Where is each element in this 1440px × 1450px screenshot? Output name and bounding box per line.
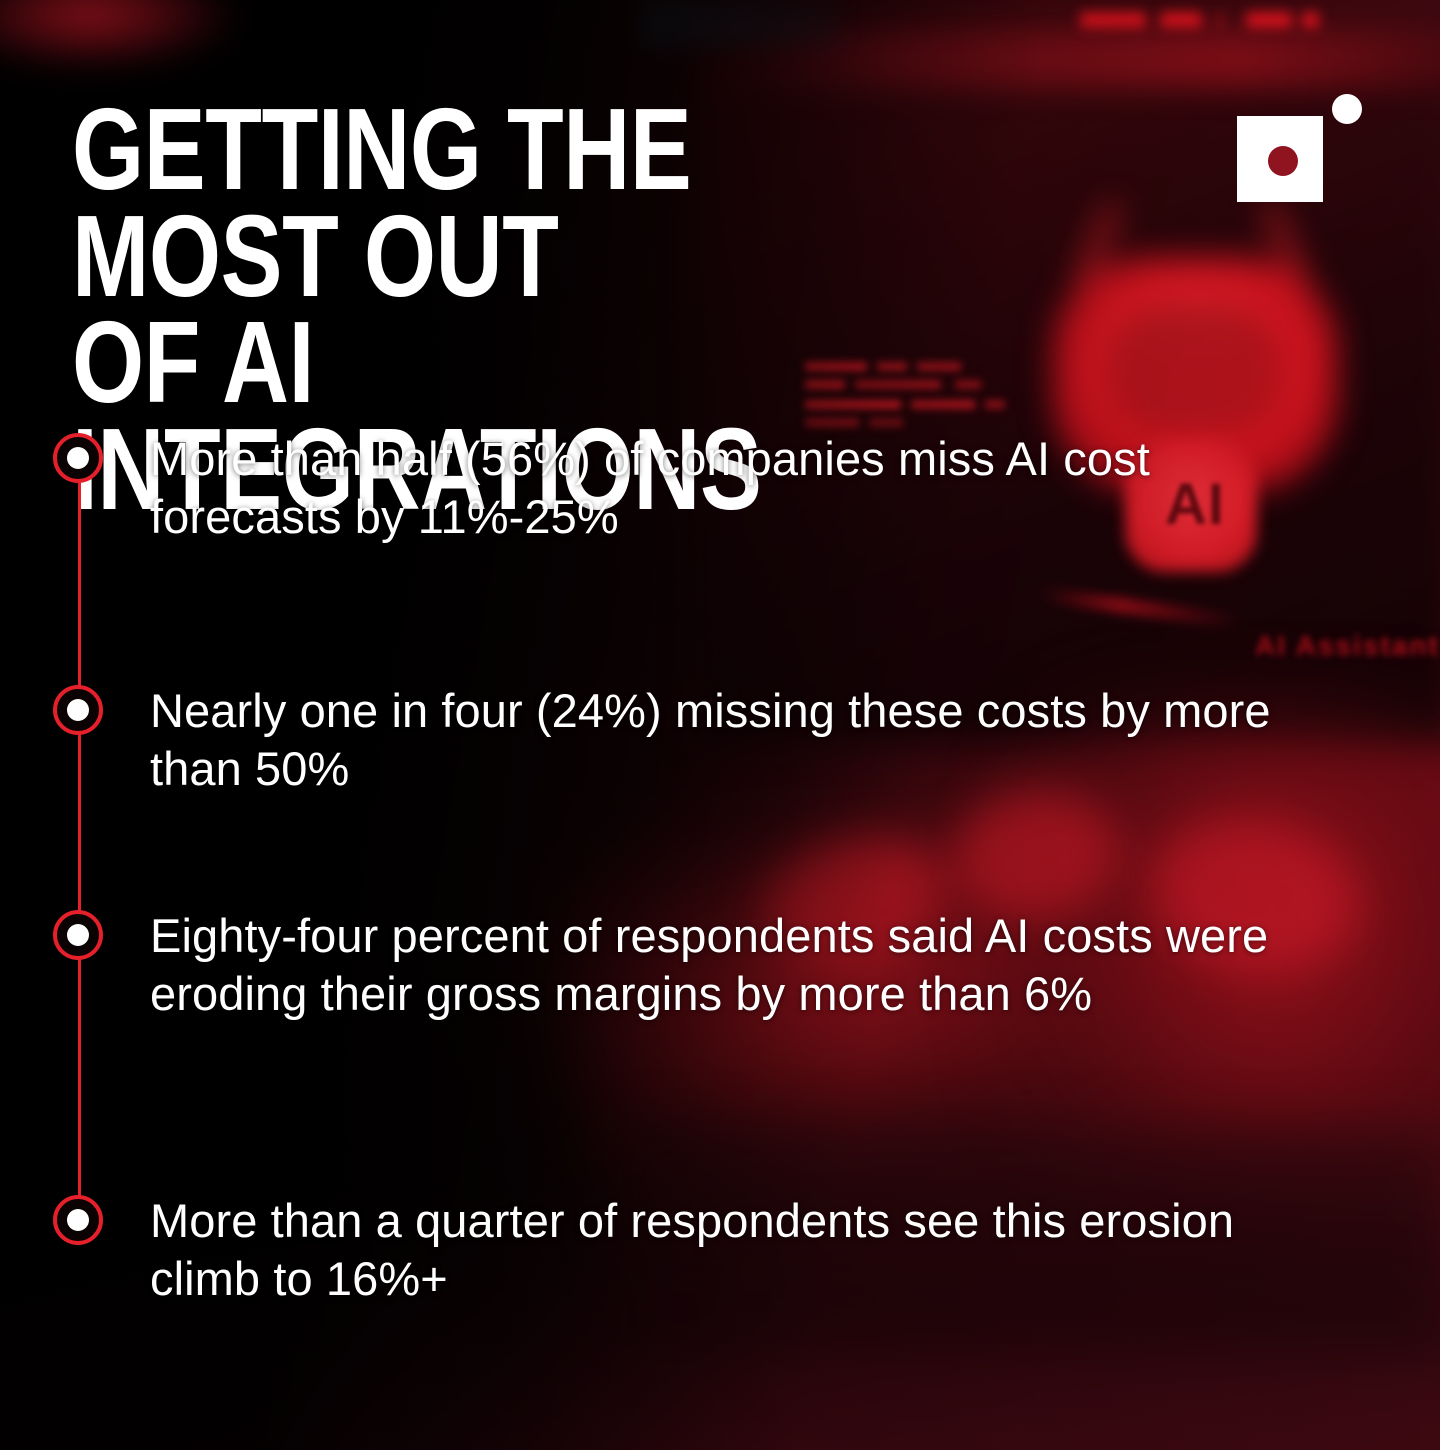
bullet-text: Eighty-four percent of respondents said … [150, 907, 1340, 1024]
bullet-text: More than half (56%) of companies miss A… [150, 430, 1340, 547]
bullet-text: More than a quarter of respondents see t… [150, 1192, 1340, 1309]
bullet-text: Nearly one in four (24%) missing these c… [150, 682, 1340, 799]
bullet-list: More than half (56%) of companies miss A… [0, 0, 1440, 1450]
foreground-content: GETTING THE MOST OUT OF AI INTEGRATIONS … [0, 0, 1440, 1450]
infographic-canvas: AI AI Assistant GETTING THE MOST OUT OF … [0, 0, 1440, 1450]
bullet-marker-core [67, 699, 89, 721]
bullet-marker-core [67, 447, 89, 469]
bullet-marker-icon [53, 1195, 103, 1245]
bullet-marker-core [67, 1209, 89, 1231]
bullet-marker-icon [53, 685, 103, 735]
bullet-marker-core [67, 924, 89, 946]
bullet-marker-icon [53, 910, 103, 960]
bullet-marker-icon [53, 433, 103, 483]
timeline-connector-line [78, 458, 81, 1220]
